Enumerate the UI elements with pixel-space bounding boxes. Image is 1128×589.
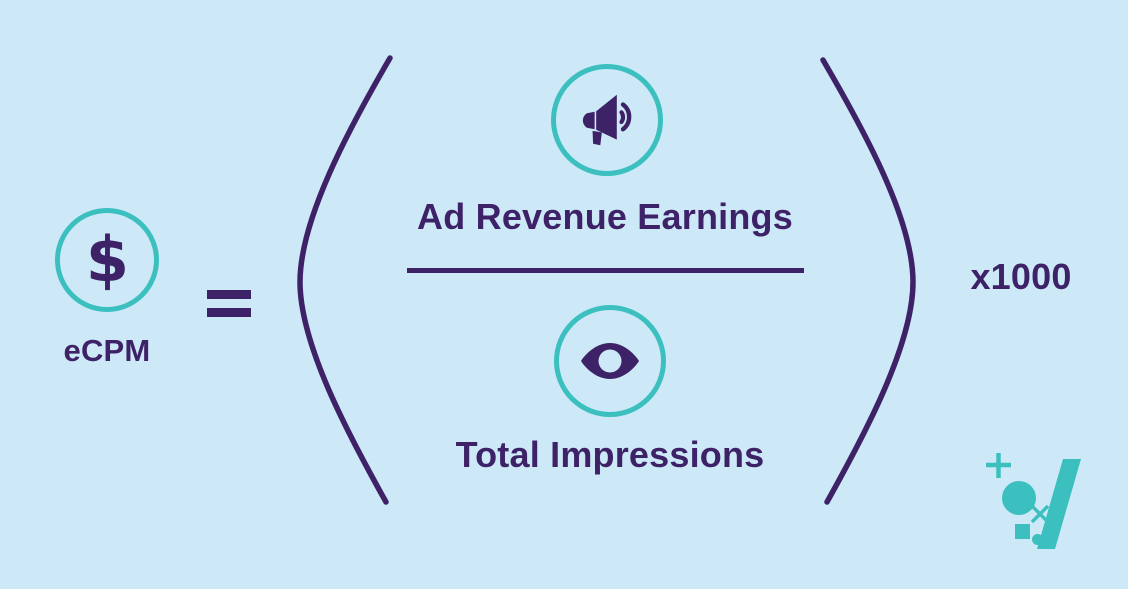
denominator-label: Total Impressions xyxy=(360,434,860,476)
megaphone-icon xyxy=(551,64,663,176)
multiplier-label: x1000 xyxy=(941,256,1101,298)
slash-mark-logo xyxy=(975,443,1087,555)
square-icon xyxy=(1015,524,1030,539)
infographic-canvas: $ eCPM Ad Revenue Earnings xyxy=(0,0,1128,589)
dollar-symbol: $ xyxy=(60,213,154,307)
ecpm-label: eCPM xyxy=(0,333,214,369)
equals-bar-bottom xyxy=(207,308,251,317)
eye-glyph xyxy=(578,329,642,393)
plus-icon xyxy=(986,453,1011,478)
circle-icon xyxy=(1002,481,1036,515)
equals-sign xyxy=(207,290,253,322)
equals-bar-top xyxy=(207,290,251,299)
dollar-sign-icon: $ xyxy=(55,208,159,312)
slash-icon xyxy=(1037,459,1081,549)
eye-icon xyxy=(554,305,666,417)
fraction-bar xyxy=(407,268,804,273)
megaphone-glyph xyxy=(574,87,640,153)
numerator-label: Ad Revenue Earnings xyxy=(355,196,855,238)
